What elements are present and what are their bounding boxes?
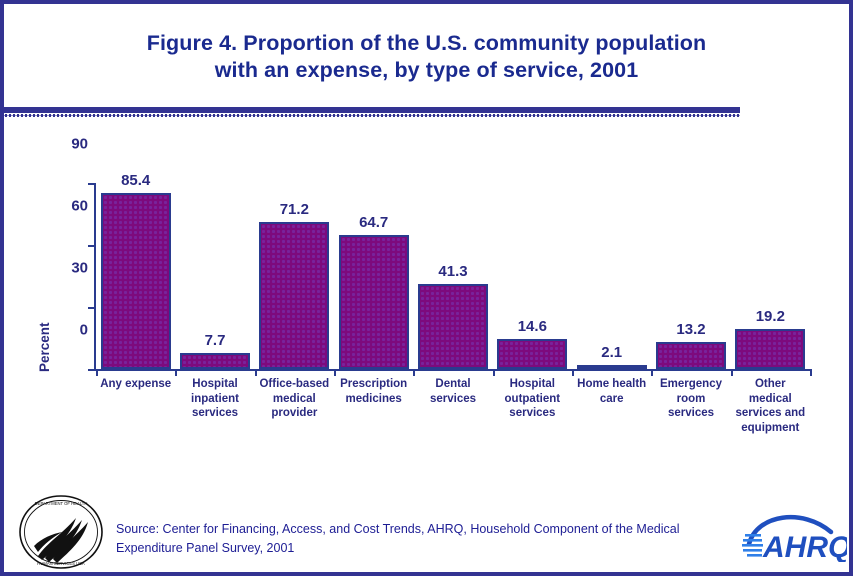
bar-slot: 7.7 [175,183,254,369]
category-label-line: Other [731,377,810,392]
bar[interactable] [101,193,171,369]
category-label-line: services [175,406,254,421]
x-axis-tick [651,369,653,376]
x-axis-category-label: Hospitaloutpatientservices [493,377,572,421]
y-axis-tick [88,369,95,371]
footer: DEPARTMENT OF HEALTH HUMAN SERVICES USA … [4,490,853,576]
title-divider [4,107,740,118]
x-axis-tick [413,369,415,376]
category-label-line: services [413,392,492,407]
ahrq-logo-icon: AHRQ [739,504,847,562]
bar-slot: 71.2 [255,183,334,369]
category-label-line: equipment [731,421,810,436]
figure-page: Figure 4. Proportion of the U.S. communi… [0,0,853,576]
x-axis-tick [810,369,812,376]
plot-area: 85.47.771.264.741.314.62.113.219.2 [96,183,810,369]
x-axis-category-label: Emergencyroomservices [651,377,730,421]
bar-slot: 64.7 [334,183,413,369]
bar[interactable] [259,222,329,369]
x-axis-tick [96,369,98,376]
category-label-line: medicines [334,392,413,407]
source-line-2: Expenditure Panel Survey, 2001 [116,539,726,558]
svg-text:HUMAN SERVICES USA: HUMAN SERVICES USA [37,561,85,566]
bar[interactable] [656,342,726,369]
category-label-line: Home health [572,377,651,392]
x-axis-category-label: Othermedicalservices andequipment [731,377,810,435]
category-label-line: Any expense [96,377,175,392]
bar[interactable] [497,339,567,369]
y-axis-tick-labels: 0306090 [50,144,88,370]
bar[interactable] [180,353,250,369]
ahrq-wordmark: AHRQ [762,531,847,562]
bar-value-label: 71.2 [255,201,334,218]
category-label-line: Emergency [651,377,730,392]
x-axis-tick [572,369,574,376]
title-line-1: Figure 4. Proportion of the U.S. communi… [4,30,849,57]
x-axis-category-label: Home healthcare [572,377,651,406]
category-label-line: Hospital [175,377,254,392]
x-axis-category-label: Office-basedmedicalprovider [255,377,334,421]
category-label-line: outpatient [493,392,572,407]
bar-value-label: 19.2 [731,308,810,325]
x-axis-tick [255,369,257,376]
bar[interactable] [735,329,805,369]
bar-value-label: 41.3 [413,263,492,280]
x-axis-category-label: Any expense [96,377,175,392]
bar[interactable] [577,365,647,369]
bar-value-label: 7.7 [175,332,254,349]
bar-slot: 2.1 [572,183,651,369]
bar-value-label: 13.2 [651,321,730,338]
y-axis-tick [88,183,95,185]
x-axis-tick [175,369,177,376]
category-label-line: Hospital [493,377,572,392]
divider-dotted-band [4,113,740,118]
x-axis-category-label: Prescriptionmedicines [334,377,413,406]
y-axis-tick [88,307,95,309]
category-label-line: Prescription [334,377,413,392]
title-line-2: with an expense, by type of service, 200… [4,57,849,84]
category-label-line: room [651,392,730,407]
bar-chart: Percent 0306090 85.47.771.264.741.314.62… [4,144,853,454]
source-note: Source: Center for Financing, Access, an… [116,520,726,558]
x-axis-category-label: Hospitalinpatientservices [175,377,254,421]
y-axis-tick [88,245,95,247]
x-axis-tick [493,369,495,376]
source-line-1: Source: Center for Financing, Access, an… [116,520,726,539]
x-axis-line [94,369,810,371]
bar-value-label: 14.6 [493,318,572,335]
category-label-line: Office-based [255,377,334,392]
bar-slot: 19.2 [731,183,810,369]
category-label-line: medical [255,392,334,407]
bar-slot: 85.4 [96,183,175,369]
category-label-line: Dental [413,377,492,392]
bar[interactable] [418,284,488,369]
x-axis-tick [731,369,733,376]
bar-value-label: 2.1 [572,344,651,361]
category-label-line: medical [731,392,810,407]
y-axis-tick-label: 30 [71,260,88,277]
x-axis-category-labels: Any expenseHospitalinpatientservicesOffi… [96,377,810,453]
category-label-line: services and [731,406,810,421]
hhs-seal-icon: DEPARTMENT OF HEALTH HUMAN SERVICES USA [18,494,104,570]
category-label-line: inpatient [175,392,254,407]
category-label-line: provider [255,406,334,421]
category-label-line: services [493,406,572,421]
bar-value-label: 85.4 [96,172,175,189]
y-axis-tick-label: 60 [71,198,88,215]
category-label-line: care [572,392,651,407]
y-axis-tick-label: 0 [80,322,88,339]
bar-slot: 14.6 [493,183,572,369]
x-axis-category-label: Dentalservices [413,377,492,406]
page-title: Figure 4. Proportion of the U.S. communi… [4,30,849,84]
svg-text:DEPARTMENT OF HEALTH: DEPARTMENT OF HEALTH [35,501,88,506]
x-axis-tick [334,369,336,376]
bar-slot: 41.3 [413,183,492,369]
bar-slot: 13.2 [651,183,730,369]
category-label-line: services [651,406,730,421]
y-axis-tick-label: 90 [71,136,88,153]
bar[interactable] [339,235,409,369]
bar-value-label: 64.7 [334,214,413,231]
